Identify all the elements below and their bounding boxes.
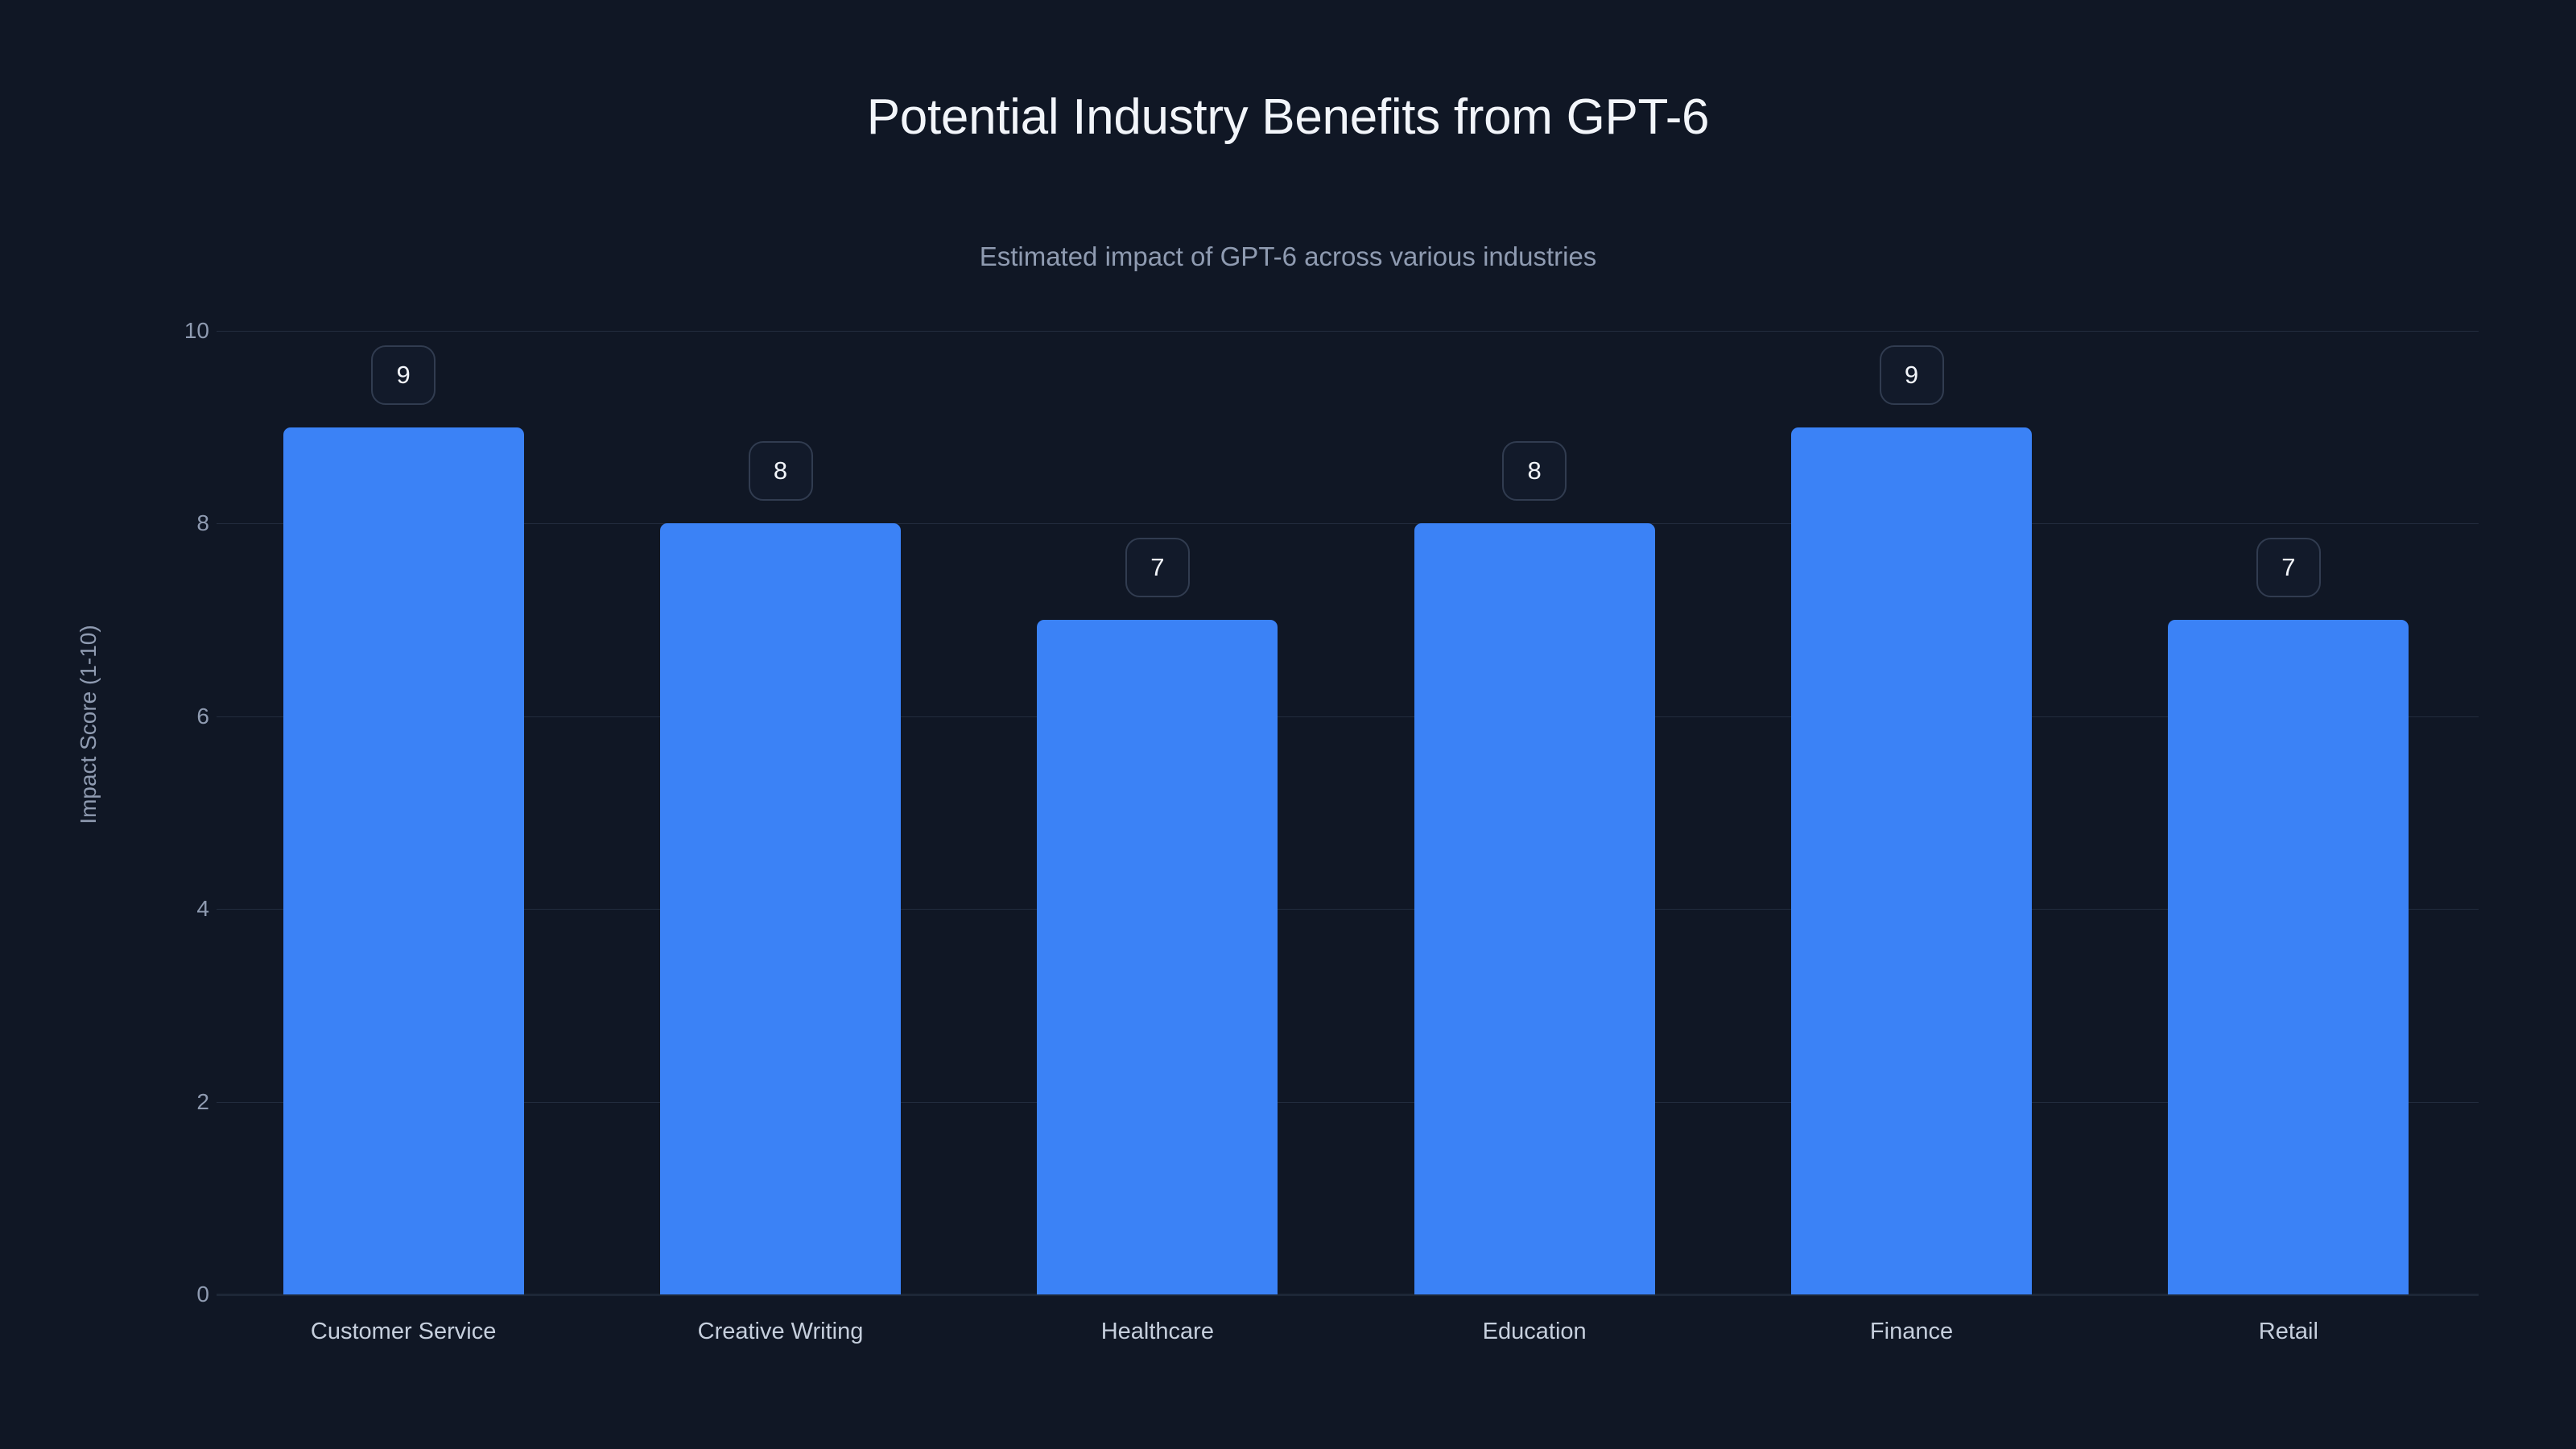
y-axis-tick-label: 4 [196,896,209,922]
bar-group[interactable]: 8Education [1414,331,1655,1294]
x-axis-category-label: Creative Writing [698,1319,864,1345]
x-axis-category-label: Healthcare [1101,1319,1214,1345]
bar-group[interactable]: 7Retail [2168,331,2409,1294]
gridline [217,1102,2479,1103]
gridline [217,909,2479,910]
gridline [217,523,2479,524]
y-axis-tick-label: 8 [196,510,209,536]
bar-group[interactable]: 9Finance [1791,331,2032,1294]
gridline [217,716,2479,717]
x-axis-category-label: Customer Service [311,1319,496,1345]
plot-area: 9Customer Service8Creative Writing7Healt… [217,331,2479,1294]
bar[interactable] [660,523,901,1294]
bar[interactable] [1414,523,1655,1294]
y-axis-tick-label: 0 [196,1282,209,1307]
bar-value-badge: 8 [749,441,813,501]
y-axis-tick-labels: 1086420 [137,331,209,1294]
x-axis-category-label: Retail [2259,1319,2318,1345]
y-axis-title: Impact Score (1-10) [76,625,101,824]
bar-group[interactable]: 7Healthcare [1037,331,1278,1294]
y-axis-tick-label: 10 [184,318,209,344]
bar-value-badge: 8 [1502,441,1567,501]
bar-value-badge: 9 [371,345,436,405]
bar-chart-canvas: Potential Industry Benefits from GPT-6 E… [0,0,2576,1449]
chart-subtitle: Estimated impact of GPT-6 across various… [0,242,2576,272]
bar[interactable] [1037,620,1278,1294]
bar[interactable] [1791,427,2032,1294]
bar-group[interactable]: 8Creative Writing [660,331,901,1294]
bar[interactable] [283,427,524,1294]
x-axis-category-label: Finance [1870,1319,1953,1345]
bar-group[interactable]: 9Customer Service [283,331,524,1294]
x-axis-category-label: Education [1483,1319,1587,1345]
axis-baseline [217,1294,2479,1296]
bar-value-badge: 7 [2256,538,2321,597]
gridline [217,331,2479,332]
bar-value-badge: 7 [1125,538,1190,597]
bar[interactable] [2168,620,2409,1294]
y-axis-tick-label: 6 [196,704,209,729]
bar-value-badge: 9 [1880,345,1944,405]
chart-title: Potential Industry Benefits from GPT-6 [0,89,2576,146]
y-axis-tick-label: 2 [196,1089,209,1115]
